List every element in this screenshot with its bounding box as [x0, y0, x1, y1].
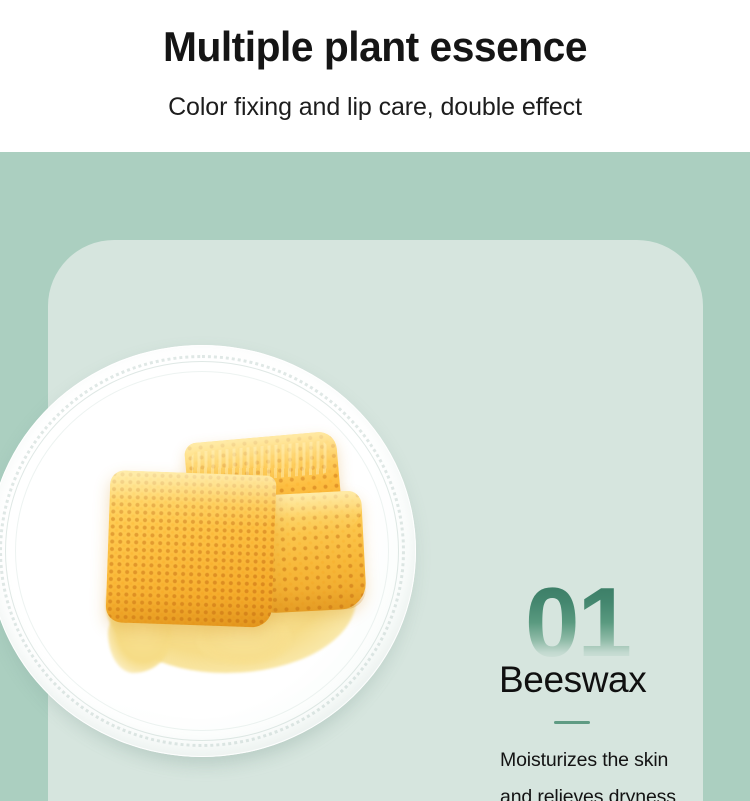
product-feature-banner: Multiple plant essence Color fixing and …: [0, 0, 750, 801]
header-section: Multiple plant essence Color fixing and …: [0, 0, 750, 152]
feature-name: Beeswax: [499, 660, 646, 701]
honeycomb-shade: [258, 577, 367, 613]
content-section: 01 Beeswax Moisturizes the skin and reli…: [0, 152, 750, 801]
feature-number: 01: [525, 582, 630, 662]
honeycomb-shade: [105, 583, 272, 628]
divider: [554, 721, 590, 724]
honeycomb-highlight: [109, 470, 277, 527]
honeycomb-front: [105, 470, 276, 628]
product-image: [0, 345, 416, 763]
feature-description: Moisturizes the skin and relieves drynes…: [500, 742, 700, 801]
page-subtitle: Color fixing and lip care, double effect: [0, 92, 750, 122]
page-title: Multiple plant essence: [11, 24, 739, 70]
